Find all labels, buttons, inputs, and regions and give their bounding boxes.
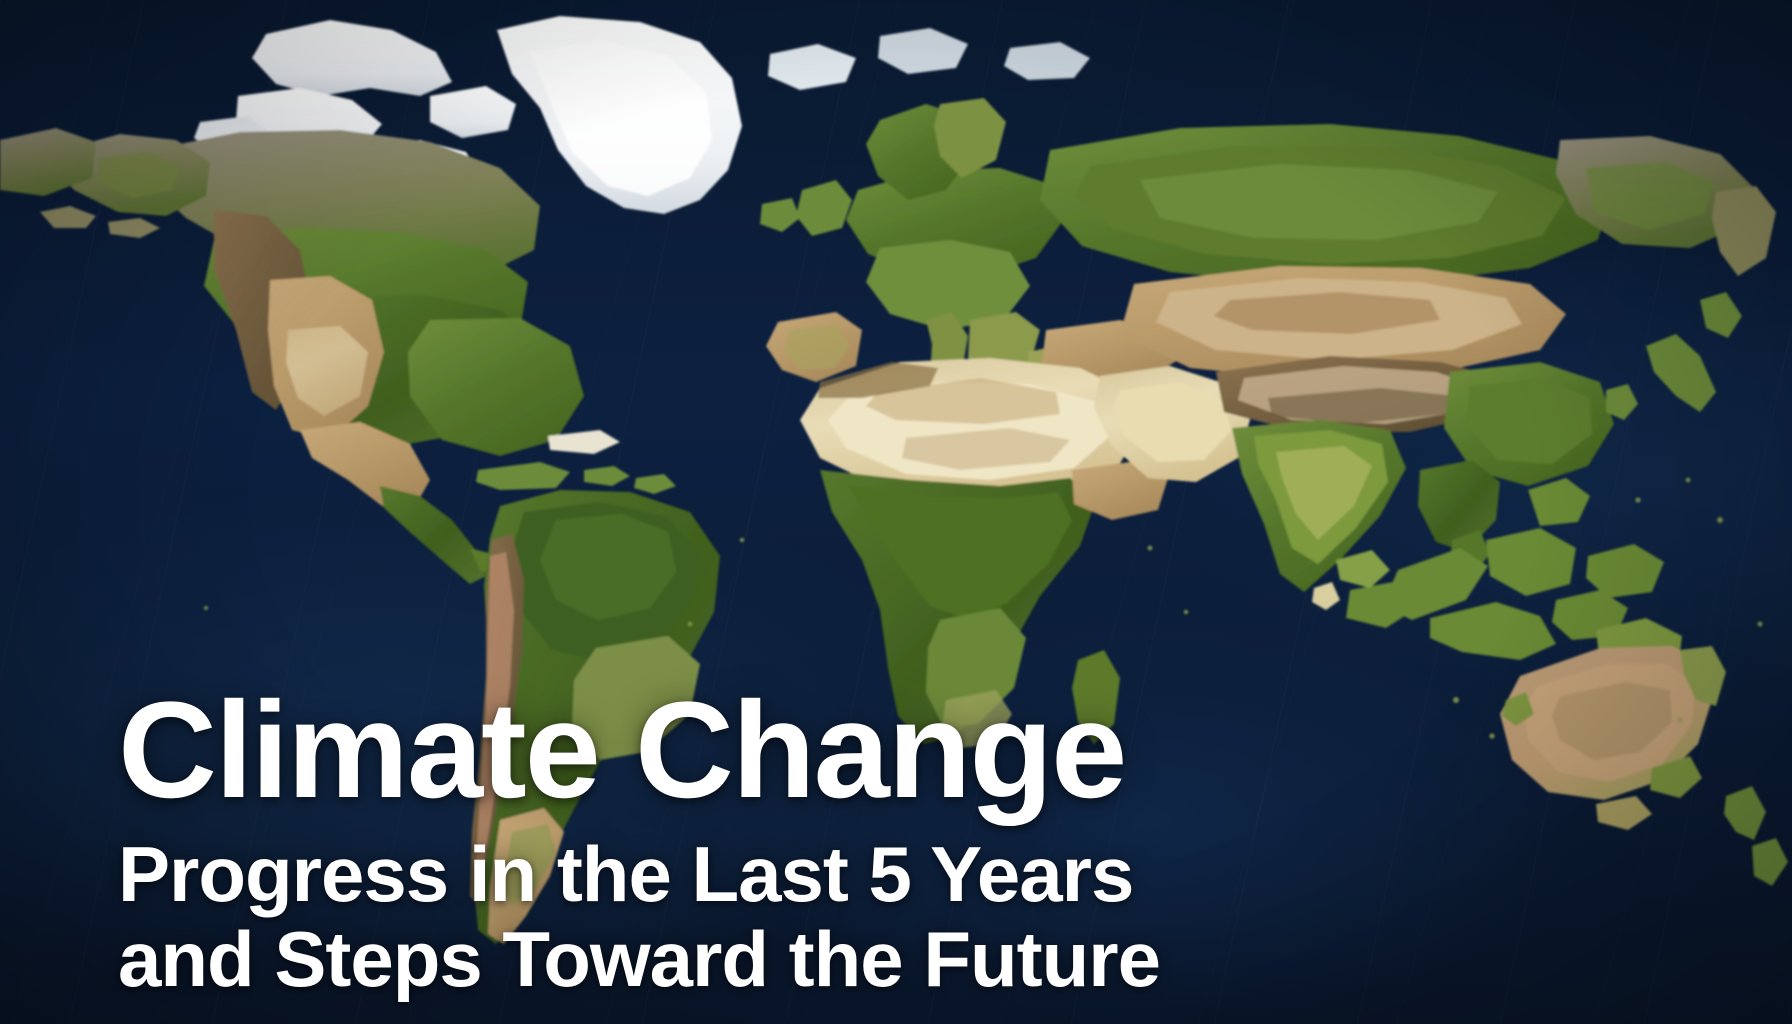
- poster-title-block: Climate Change Progress in the Last 5 Ye…: [118, 684, 1438, 1002]
- india: [1232, 420, 1406, 610]
- asia-siberia: [1040, 124, 1776, 284]
- new-zealand: [1724, 786, 1788, 886]
- subtitle-line-2: and Steps Toward the Future: [118, 917, 1438, 1002]
- subtitle-line-1: Progress in the Last 5 Years: [118, 832, 1438, 917]
- australia: [1500, 646, 1726, 830]
- page-title: Climate Change: [118, 684, 1438, 818]
- poster-canvas: Climate Change Progress in the Last 5 Ye…: [0, 0, 1792, 1024]
- greenland-ice-sheet: [497, 16, 742, 214]
